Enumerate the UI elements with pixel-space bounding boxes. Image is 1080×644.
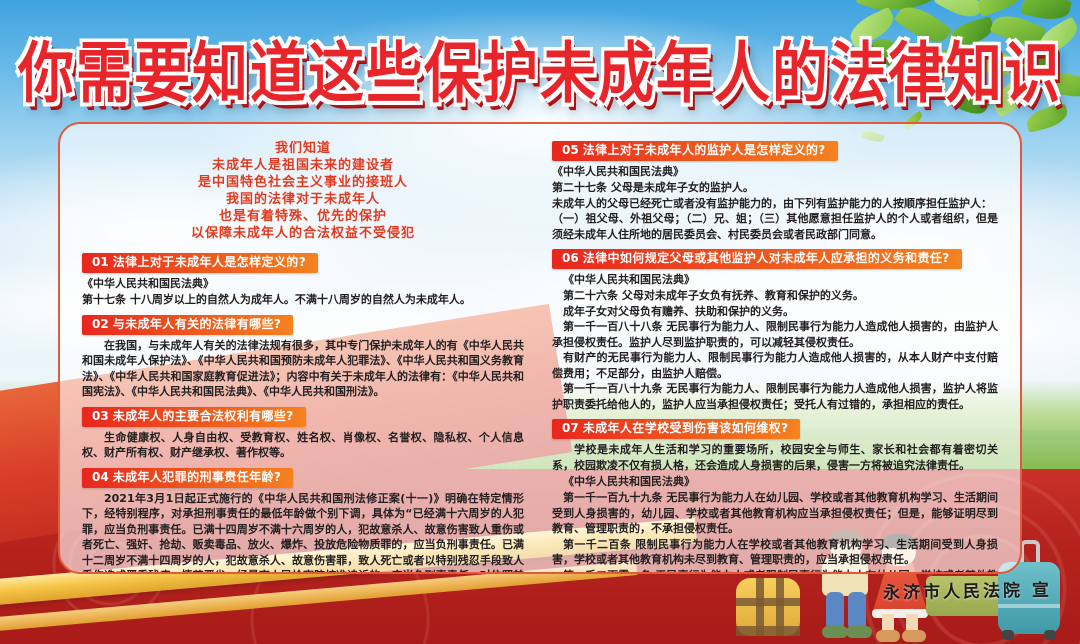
intro-line: 是中国特色社会主义事业的接班人	[82, 174, 524, 191]
section-number-02: 02	[92, 317, 109, 331]
section-paragraph-03: 生命健康权、人身自由权、受教育权、姓名权、肖像权、名誉权、隐私权、个人信息权、财…	[82, 430, 524, 461]
section-bar-02: 02与未成年人有关的法律有哪些?	[82, 315, 293, 335]
section-paragraph-06-b: 成年子女对父母负有赡养、扶助和保护的义务。	[552, 304, 998, 320]
section-header-06: 06法律中如何规定父母或其他监护人对未成年人应承担的义务和责任?	[552, 249, 998, 269]
section-paragraph-07-d: 第一千二百零一条 无民事行为能力人或者限制民事行为能力人在幼儿园、学校或者其他教…	[552, 568, 998, 575]
law-name-05: 《中华人民共和国民法典》	[552, 164, 998, 180]
section-bar-05: 05法律上对于未成年人的监护人是怎样定义的?	[552, 141, 838, 161]
section-number-01: 01	[92, 255, 109, 269]
section-heading-05: 法律上对于未成年人的监护人是怎样定义的?	[583, 143, 826, 157]
section-number-06: 06	[562, 251, 579, 265]
poster-title-container: 你需要知道这些保护未成年人的法律知识	[0, 28, 1080, 109]
section-paragraph-06-d: 有财产的无民事行为能力人、限制民事行为能力人造成他人损害的，从本人财产中支付赔偿…	[552, 350, 998, 381]
intro-line: 我们知道	[82, 140, 524, 157]
section-number-04: 04	[92, 470, 109, 484]
section-header-05: 05法律上对于未成年人的监护人是怎样定义的?	[552, 141, 998, 161]
section-heading-06: 法律中如何规定父母或其他监护人对未成年人应承担的义务和责任?	[583, 251, 950, 265]
section-paragraph-07-a: 学校是未成年人生活和学习的重要场所，校园安全与师生、家长和社会都有着密切关系，校…	[552, 442, 998, 473]
section-paragraph-06-e: 第一千一百八十九条 无民事行为能力人、限制民事行为能力人造成他人损害，监护人将监…	[552, 381, 998, 412]
section-paragraph-06-a: 第二十六条 父母对未成年子女负有抚养、教育和保护的义务。	[552, 288, 998, 304]
section-header-01: 01法律上对于未成年人是怎样定义的?	[82, 253, 524, 273]
intro-block: 我们知道 未成年人是祖国未来的建设者 是中国特色社会主义事业的接班人 我国的法律…	[82, 134, 524, 246]
section-heading-02: 与未成年人有关的法律有哪些?	[113, 317, 282, 331]
section-header-04: 04未成年人犯罪的刑事责任年龄?	[82, 468, 524, 488]
law-name-07: 《中华人民共和国民法典》	[552, 474, 998, 490]
section-paragraph-06-c: 第一千一百八十八条 无民事行为能力人、限制民事行为能力人造成他人损害的，由监护人…	[552, 319, 998, 350]
section-number-07: 07	[562, 421, 579, 435]
section-paragraph-01: 第十七条 十八周岁以上的自然人为成年人。不满十八周岁的自然人为未成年人。	[82, 292, 524, 308]
section-heading-07: 未成年人在学校受到伤害该如何维权?	[583, 421, 789, 435]
section-bar-07: 07未成年人在学校受到伤害该如何维权?	[552, 419, 800, 439]
intro-line: 我国的法律对于未成年人	[82, 191, 524, 208]
section-paragraph-02: 在我国，与未成年人有关的法律法规有很多，其中专门保护未成年人的有《中华人民共和国…	[82, 338, 524, 400]
law-name-06: 《中华人民共和国民法典》	[552, 272, 998, 288]
law-name-01: 《中华人民共和国民法典》	[82, 276, 524, 292]
section-header-02: 02与未成年人有关的法律有哪些?	[82, 315, 524, 335]
section-number-03: 03	[92, 409, 109, 423]
right-column: 05法律上对于未成年人的监护人是怎样定义的? 《中华人民共和国民法典》 第二十七…	[540, 134, 1006, 566]
intro-line: 也是有着特殊、优先的保护	[82, 208, 524, 225]
section-heading-03: 未成年人的主要合法权利有哪些?	[113, 409, 294, 423]
intro-line: 以保障未成年人的合法权益不受侵犯	[82, 225, 524, 242]
left-column: 我们知道 未成年人是祖国未来的建设者 是中国特色社会主义事业的接班人 我国的法律…	[74, 134, 540, 566]
section-bar-04: 04未成年人犯罪的刑事责任年龄?	[82, 468, 293, 488]
poster-title: 你需要知道这些保护未成年人的法律知识	[18, 21, 1062, 117]
intro-line: 未成年人是祖国未来的建设者	[82, 157, 524, 174]
section-paragraph-05-a: 第二十七条 父母是未成年子女的监护人。	[552, 180, 998, 196]
section-bar-01: 01法律上对于未成年人是怎样定义的?	[82, 253, 318, 273]
section-paragraph-07-b: 第一千一百九十九条 无民事行为能力人在幼儿园、学校或者其他教育机构学习、生活期间…	[552, 490, 998, 537]
content-panel: 我们知道 未成年人是祖国未来的建设者 是中国特色社会主义事业的接班人 我国的法律…	[58, 122, 1022, 574]
section-header-07: 07未成年人在学校受到伤害该如何维权?	[552, 419, 998, 439]
section-paragraph-05-b: 未成年人的父母已经死亡或者没有监护能力的，由下列有监护能力的人按顺序担任监护人：	[552, 196, 998, 212]
section-paragraph-07-c: 第一千二百条 限制民事行为能力人在学校或者其他教育机构学习、生活期间受到人身损害…	[552, 537, 998, 568]
court-stamp: 永济市人民法院 宣	[883, 576, 1052, 604]
section-bar-03: 03未成年人的主要合法权利有哪些?	[82, 407, 306, 427]
section-heading-01: 法律上对于未成年人是怎样定义的?	[113, 255, 306, 269]
section-paragraph-04: 2021年3月1日起正式施行的《中华人民共和国刑法修正案(十一)》明确在特定情形…	[82, 491, 524, 575]
section-number-05: 05	[562, 143, 579, 157]
section-heading-04: 未成年人犯罪的刑事责任年龄?	[113, 470, 282, 484]
section-paragraph-05-c: （一）祖父母、外祖父母；（二）兄、姐；（三）其他愿意担任监护人的个人或者组织，但…	[552, 211, 998, 242]
section-bar-06: 06法律中如何规定父母或其他监护人对未成年人应承担的义务和责任?	[552, 249, 962, 269]
section-header-03: 03未成年人的主要合法权利有哪些?	[82, 407, 524, 427]
